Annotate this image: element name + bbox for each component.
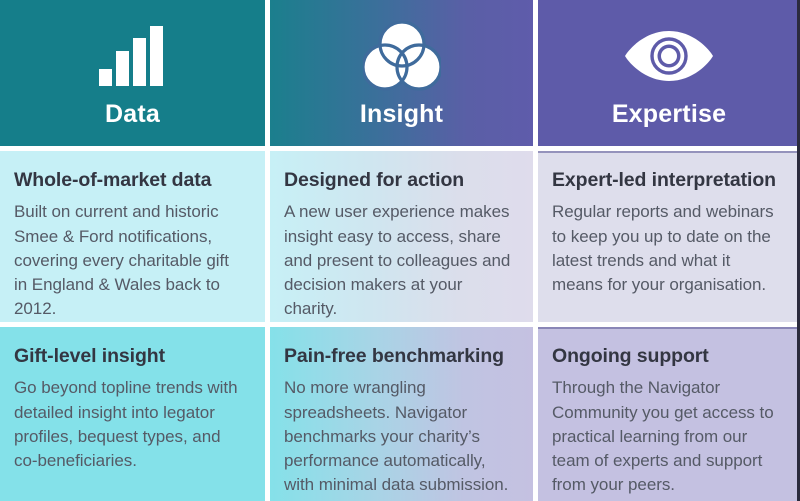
feature-cell: Whole-of-market data Built on current an…: [0, 151, 265, 322]
feature-title: Expert-led interpretation: [552, 169, 780, 191]
feature-cell: Designed for action A new user experienc…: [270, 151, 533, 322]
feature-cell: Expert-led interpretation Regular report…: [538, 151, 800, 322]
feature-cell: Pain-free benchmarking No more wrangling…: [270, 327, 533, 501]
feature-title: Ongoing support: [552, 345, 780, 367]
feature-description: Built on current and historic Smee & For…: [14, 200, 245, 321]
column-header-label: Insight: [360, 102, 443, 127]
column-header-data: Data: [0, 0, 265, 146]
bar-chart-icon: [97, 22, 169, 90]
venn-diagram-icon: [363, 22, 441, 90]
feature-description: A new user experience makes insight easy…: [284, 200, 513, 321]
eye-icon: [623, 22, 715, 90]
feature-title: Designed for action: [284, 169, 513, 191]
column-header-insight: Insight: [270, 0, 533, 146]
feature-title: Whole-of-market data: [14, 169, 245, 191]
feature-cell: Ongoing support Through the Navigator Co…: [538, 327, 800, 501]
column-header-expertise: Expertise: [538, 0, 800, 146]
column-header-label: Expertise: [612, 102, 726, 127]
feature-title: Gift-level insight: [14, 345, 245, 367]
feature-title: Pain-free benchmarking: [284, 345, 513, 367]
feature-description: Go beyond topline trends with detailed i…: [14, 376, 245, 473]
column-header-label: Data: [105, 102, 160, 127]
feature-description: No more wrangling spreadsheets. Navigato…: [284, 376, 513, 497]
feature-comparison-table: Data Insight: [0, 0, 800, 501]
feature-description: Regular reports and webinars to keep you…: [552, 200, 780, 297]
feature-description: Through the Navigator Community you get …: [552, 376, 780, 497]
feature-cell: Gift-level insight Go beyond topline tre…: [0, 327, 265, 501]
